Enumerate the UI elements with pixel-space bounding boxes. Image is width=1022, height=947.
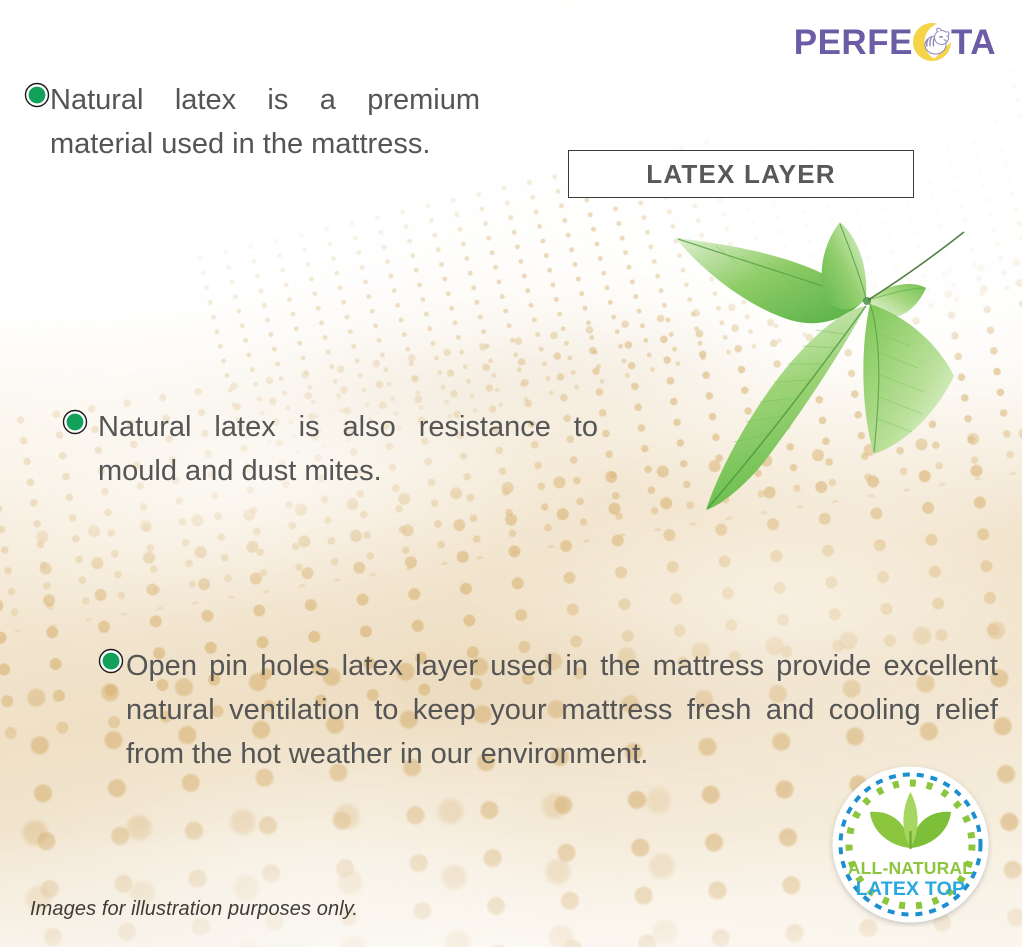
green-bullet-icon [62,409,88,435]
compound-leaf-photo [668,218,998,513]
green-bullet-icon [24,82,50,108]
brand-logo: PERFE TA [794,18,996,66]
bullet-item-3: Open pin holes latex layer used in the m… [98,644,998,776]
bullet-item-2: Natural latex is also resistance to moul… [62,405,607,493]
infographic-canvas: PERFE TA LATEX LAYER [0,0,1022,947]
bullet-text-1: Natural latex is a premium material used… [50,78,480,166]
brand-name-part2: TA [951,25,996,60]
badge-line2: LATEX TOP [856,878,965,900]
green-bullet-icon [98,648,124,674]
crescent-moon-sleeping-figure-icon [911,20,953,64]
page-title: LATEX LAYER [646,159,835,190]
bullet-text-2: Natural latex is also resistance to moul… [98,405,598,493]
bullet-text-3: Open pin holes latex layer used in the m… [126,644,998,776]
section-title-box: LATEX LAYER [568,150,914,198]
brand-name-part1: PERFE [794,25,913,60]
bullet-item-1: Natural latex is a premium material used… [24,78,494,166]
badge-line1: ALL-NATURAL [848,858,973,878]
disclaimer-text: Images for illustration purposes only. [30,898,358,921]
all-natural-latex-top-badge: ALL-NATURAL LATEX TOP [828,762,993,927]
